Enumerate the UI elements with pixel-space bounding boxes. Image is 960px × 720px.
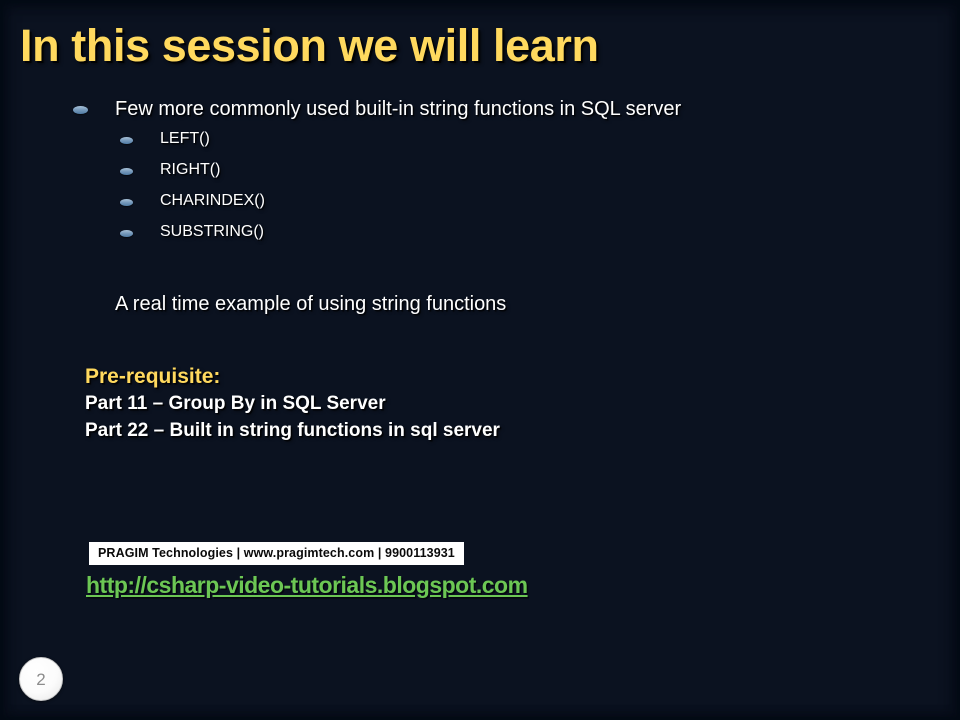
page-number-badge: 2 — [19, 657, 63, 701]
credit-bar: PRAGIM Technologies | www.pragimtech.com… — [89, 542, 464, 565]
ellipse-bullet-icon — [120, 137, 133, 144]
ellipse-bullet-icon — [73, 106, 88, 114]
statement-line: A real time example of using string func… — [115, 290, 506, 318]
prerequisite-item-1: Part 11 – Group By in SQL Server — [85, 390, 845, 417]
prerequisite-heading: Pre-requisite: — [85, 363, 845, 390]
ellipse-bullet-icon — [120, 168, 133, 175]
prerequisite-block: Pre-requisite: Part 11 – Group By in SQL… — [85, 363, 845, 444]
slide-canvas: In this session we will learn Few more c… — [0, 0, 960, 720]
ellipse-bullet-icon — [120, 230, 133, 237]
bullet-text-right: RIGHT() — [160, 157, 220, 183]
bullet-row-lead: Few more commonly used built-in string f… — [0, 95, 960, 126]
bullet-row-right: RIGHT() — [0, 157, 960, 188]
blog-link[interactable]: http://csharp-video-tutorials.blogspot.c… — [86, 572, 528, 599]
bullet-text-left: LEFT() — [160, 126, 210, 152]
prerequisite-item-2: Part 22 – Built in string functions in s… — [85, 417, 845, 444]
slide-title: In this session we will learn — [20, 22, 920, 69]
bullet-text-substring: SUBSTRING() — [160, 219, 264, 245]
bullet-row-charindex: CHARINDEX() — [0, 188, 960, 219]
slide-body: Few more commonly used built-in string f… — [0, 95, 960, 250]
bullet-text-lead: Few more commonly used built-in string f… — [115, 95, 681, 123]
bullet-row-substring: SUBSTRING() — [0, 219, 960, 250]
page-number-text: 2 — [36, 671, 45, 688]
credit-bar-text: PRAGIM Technologies | www.pragimtech.com… — [98, 542, 455, 565]
bullet-row-left: LEFT() — [0, 126, 960, 157]
ellipse-bullet-icon — [120, 199, 133, 206]
bullet-text-charindex: CHARINDEX() — [160, 188, 265, 214]
